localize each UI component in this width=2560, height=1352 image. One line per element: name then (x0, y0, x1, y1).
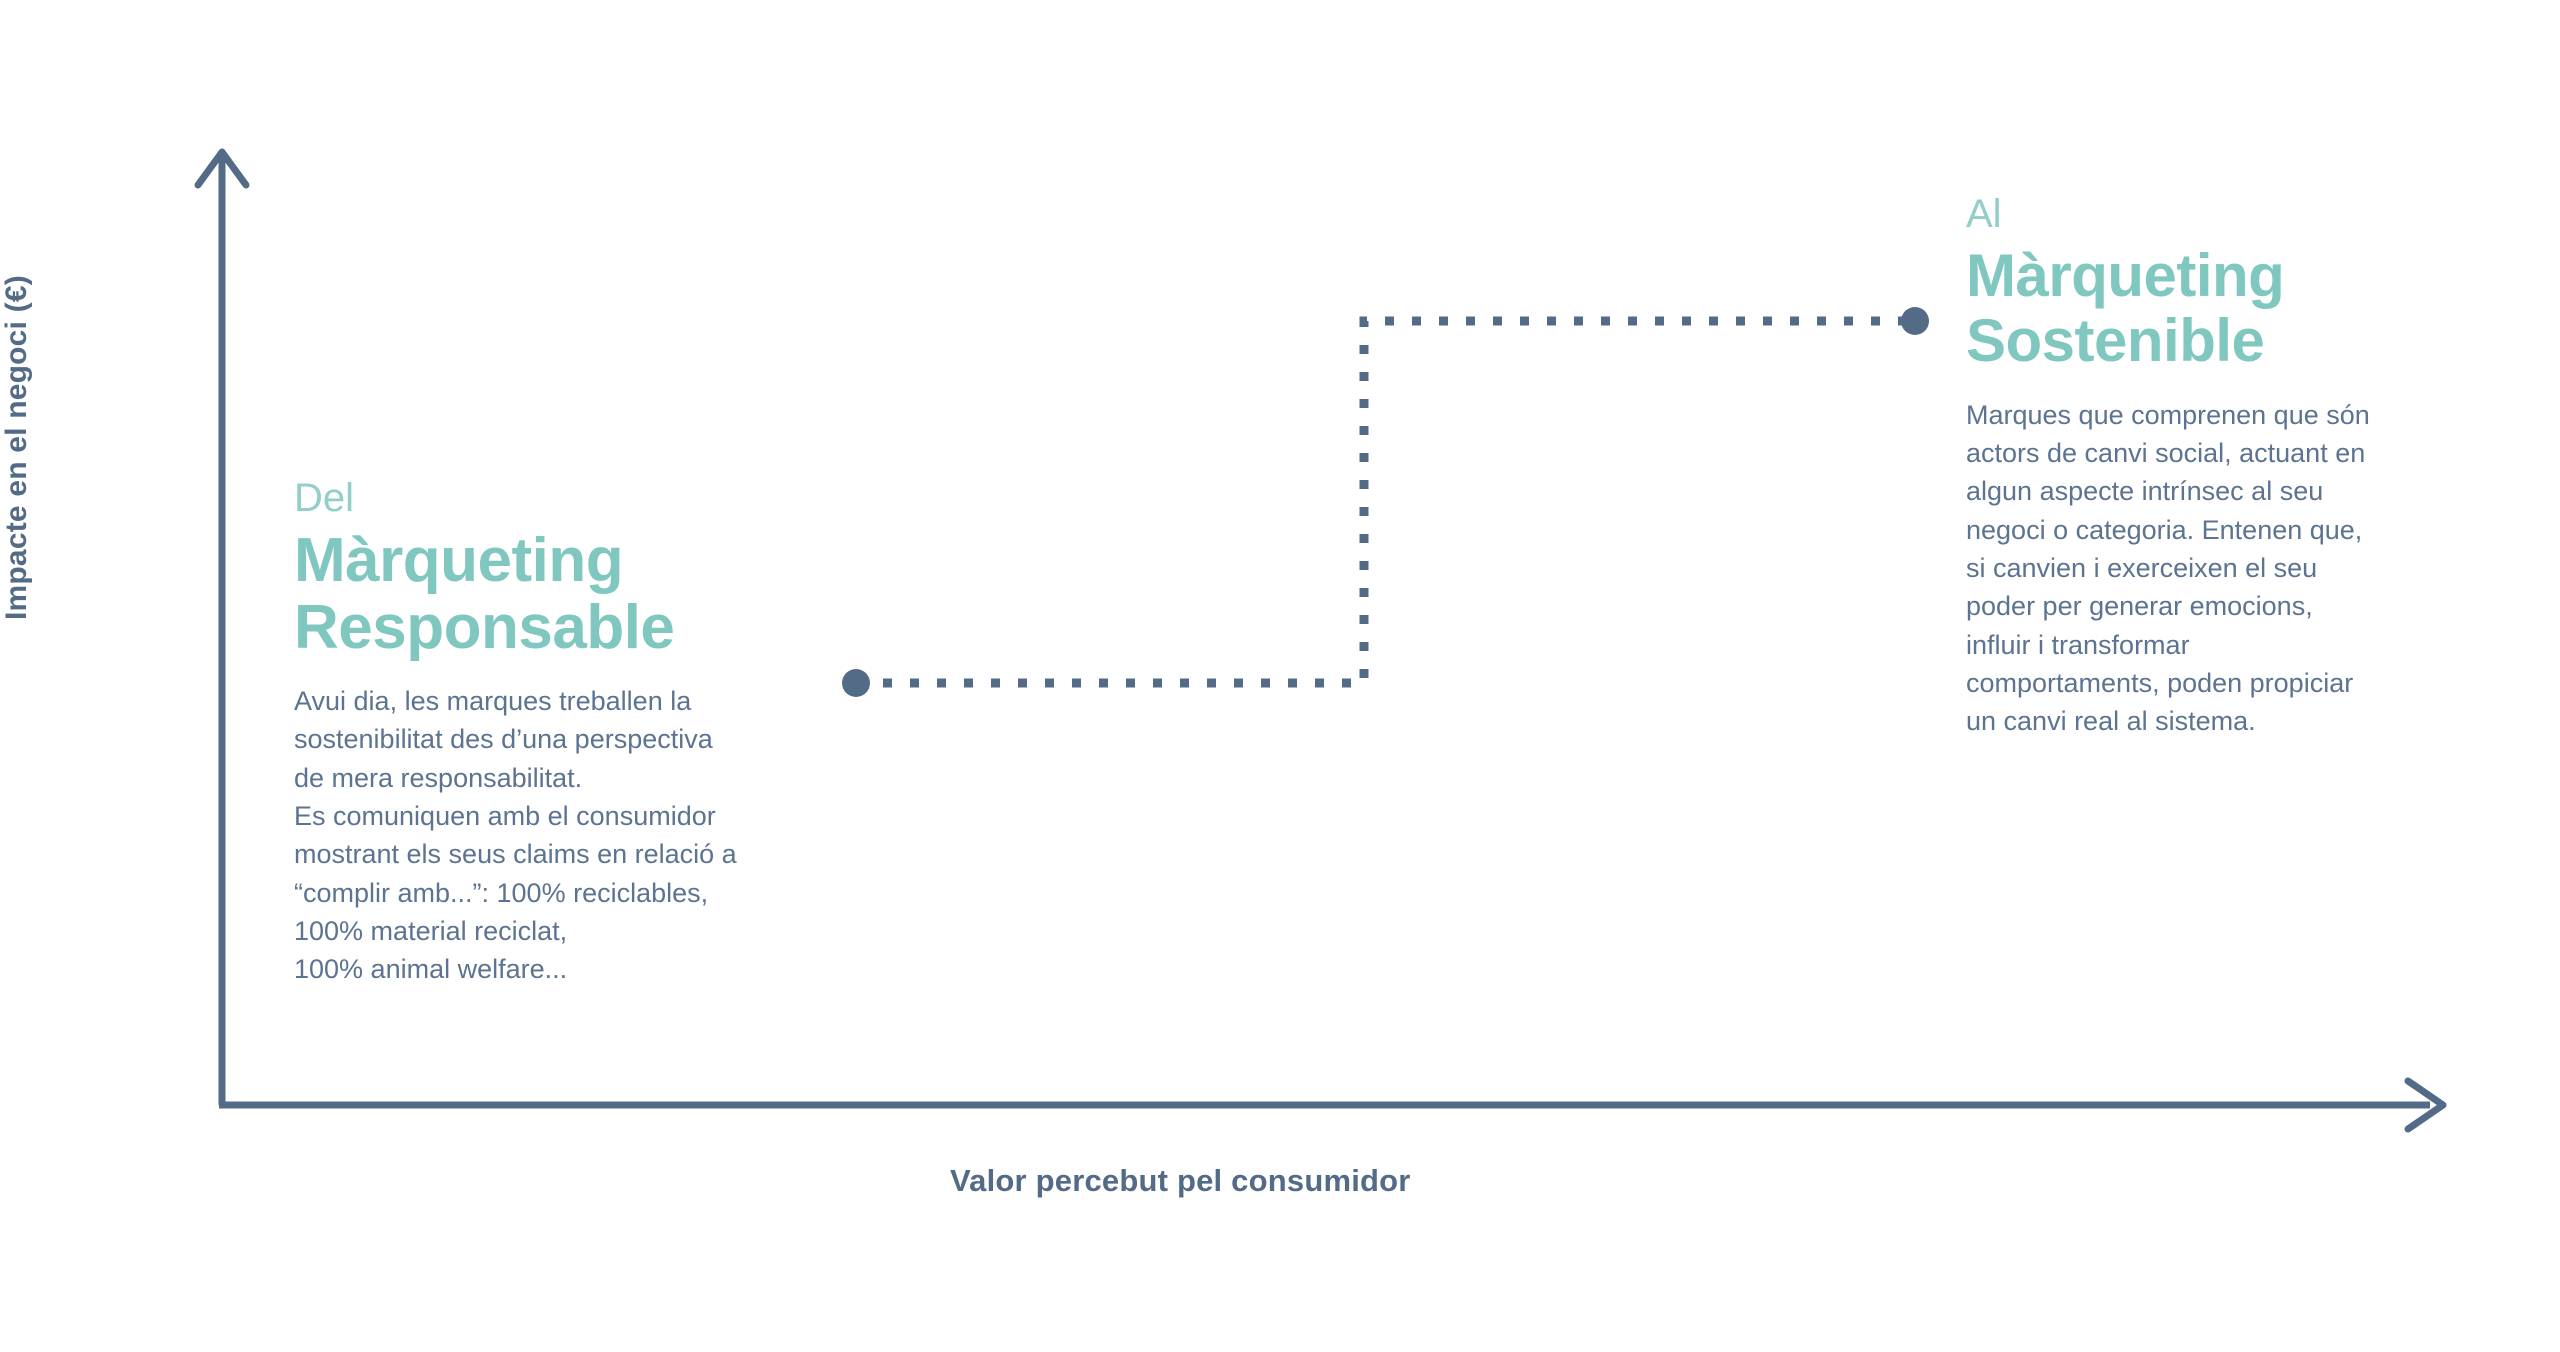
stage-block-sostenible: Al Màrqueting Sostenible Marques que com… (1966, 194, 2466, 741)
y-axis-label: Impacte en el negoci (€) (0, 100, 34, 620)
stage-title-line2: Sostenible (1966, 307, 2264, 374)
stage-prefix-al: Al (1966, 194, 2466, 234)
stage-title-responsable: Màrqueting Responsable (294, 528, 814, 662)
stage-title-line1: Màrqueting (294, 526, 623, 595)
y-axis (198, 152, 246, 1105)
step-connector-line (856, 321, 1915, 683)
stage-block-responsable: Del Màrqueting Responsable Avui dia, les… (294, 478, 814, 989)
data-point-marker-sostenible[interactable] (1901, 307, 1929, 335)
stage-title-sostenible: Màrqueting Sostenible (1966, 244, 2466, 374)
stage-prefix-del: Del (294, 478, 814, 518)
stage-body-responsable: Avui dia, les marques treballen la soste… (294, 682, 814, 989)
x-axis (219, 1081, 2443, 1129)
diagram-canvas: Impacte en el negoci (€) Valor percebut … (0, 0, 2560, 1352)
stage-title-line2: Responsable (294, 593, 674, 662)
x-axis-label: Valor percebut pel consumidor (950, 1163, 1411, 1199)
stage-body-sostenible: Marques que comprenen que són actors de … (1966, 396, 2466, 741)
stage-title-line1: Màrqueting (1966, 242, 2284, 309)
data-point-marker-responsable[interactable] (842, 669, 870, 697)
